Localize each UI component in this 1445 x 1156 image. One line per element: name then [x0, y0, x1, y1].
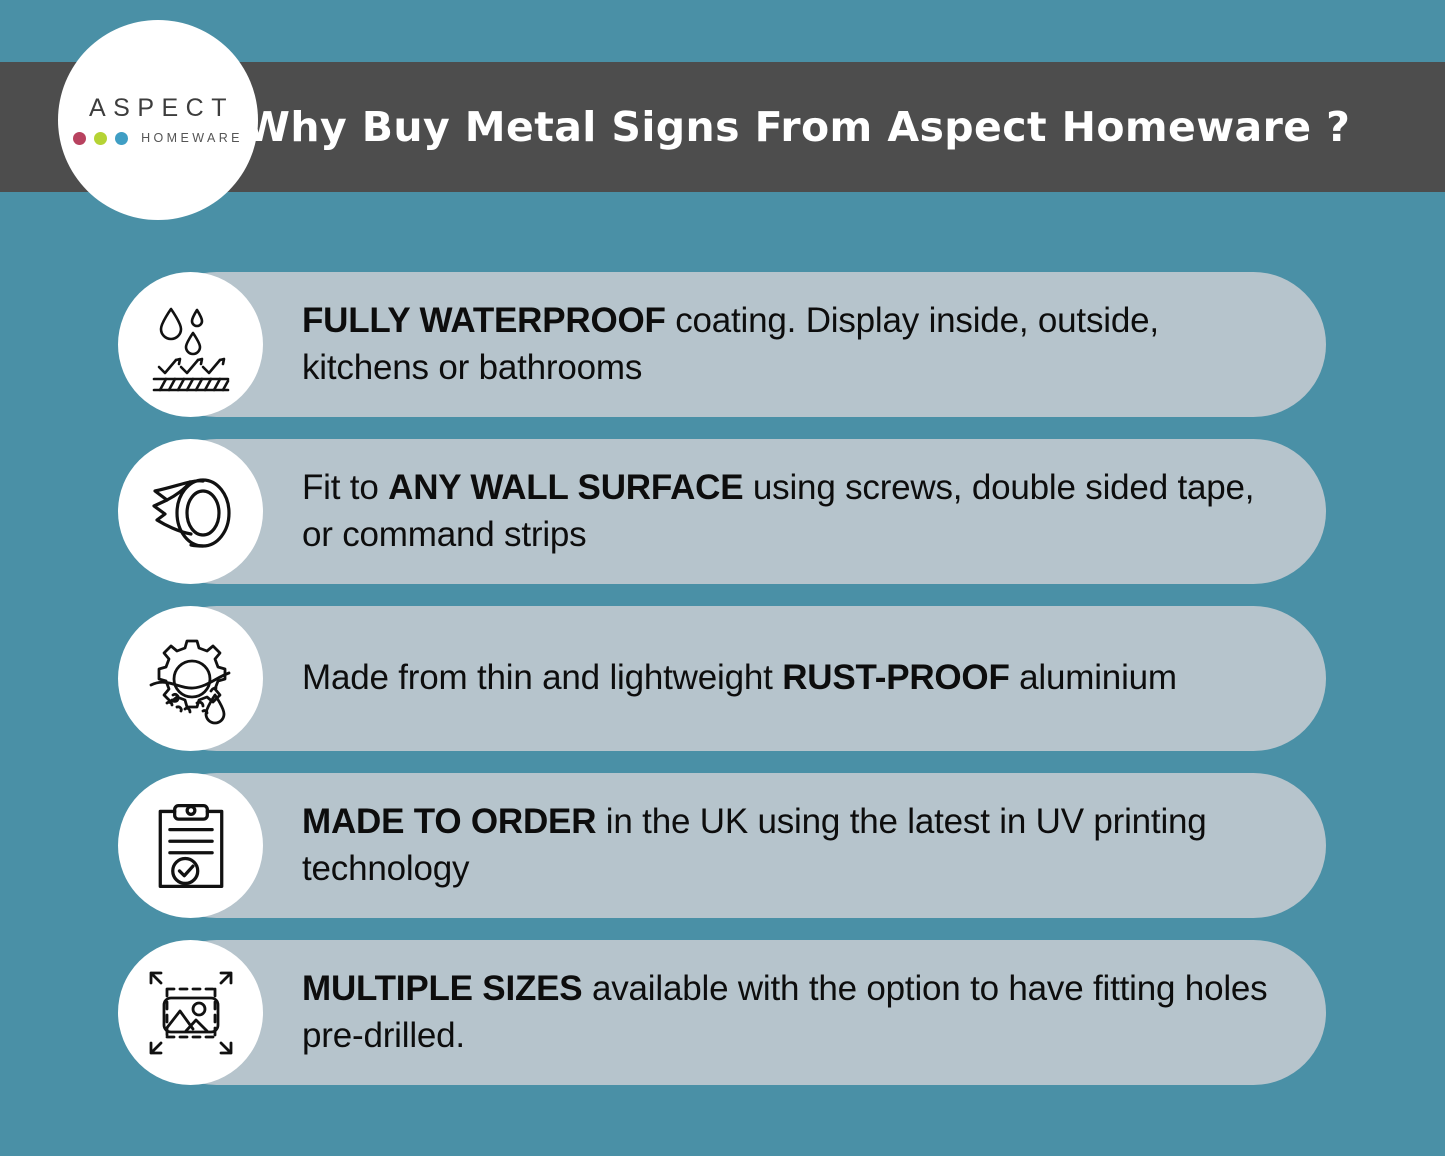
brand-subtext: HOMEWARE [141, 132, 243, 145]
tape-roll-icon [118, 439, 263, 584]
feature-lead: RUST-PROOF [782, 658, 1009, 697]
feature-prefix: Fit to [302, 468, 388, 507]
feature-rest: aluminium [1010, 658, 1177, 697]
page-title: Why Buy Metal Signs From Aspect Homeware… [95, 103, 1351, 151]
brand-wordmark: ASPECT [82, 96, 234, 121]
feature-row-multiple-sizes: MULTIPLE SIZES available with the option… [0, 940, 1445, 1085]
feature-text-rust-proof: Made from thin and lightweight RUST-PROO… [302, 606, 1292, 751]
feature-text-any-wall-surface: Fit to ANY WALL SURFACE using screws, do… [302, 439, 1292, 584]
feature-text-multiple-sizes: MULTIPLE SIZES available with the option… [302, 940, 1292, 1085]
feature-lead: MADE TO ORDER [302, 802, 596, 841]
logo-dot-pink [73, 132, 86, 145]
brand-subrow: HOMEWARE [73, 132, 243, 145]
infographic-page: Why Buy Metal Signs From Aspect Homeware… [0, 0, 1445, 1156]
rust-proof-gear-icon [118, 606, 263, 751]
waterproof-icon [118, 272, 263, 417]
clipboard-check-icon [118, 773, 263, 918]
feature-lead: FULLY WATERPROOF [302, 301, 666, 340]
feature-row-waterproof: FULLY WATERPROOF coating. Display inside… [0, 272, 1445, 417]
feature-lead: ANY WALL SURFACE [388, 468, 743, 507]
feature-row-made-to-order: MADE TO ORDER in the UK using the latest… [0, 773, 1445, 918]
logo-dot-blue [115, 132, 128, 145]
brand-logo-badge: ASPECT HOMEWARE [58, 20, 258, 220]
feature-row-rust-proof: Made from thin and lightweight RUST-PROO… [0, 606, 1445, 751]
feature-text-waterproof: FULLY WATERPROOF coating. Display inside… [302, 272, 1292, 417]
feature-list: FULLY WATERPROOF coating. Display inside… [0, 272, 1445, 1107]
logo-dot-lime [94, 132, 107, 145]
feature-text-made-to-order: MADE TO ORDER in the UK using the latest… [302, 773, 1292, 918]
resize-image-icon [118, 940, 263, 1085]
feature-prefix: Made from thin and lightweight [302, 658, 782, 697]
feature-lead: MULTIPLE SIZES [302, 969, 582, 1008]
feature-row-any-wall-surface: Fit to ANY WALL SURFACE using screws, do… [0, 439, 1445, 584]
